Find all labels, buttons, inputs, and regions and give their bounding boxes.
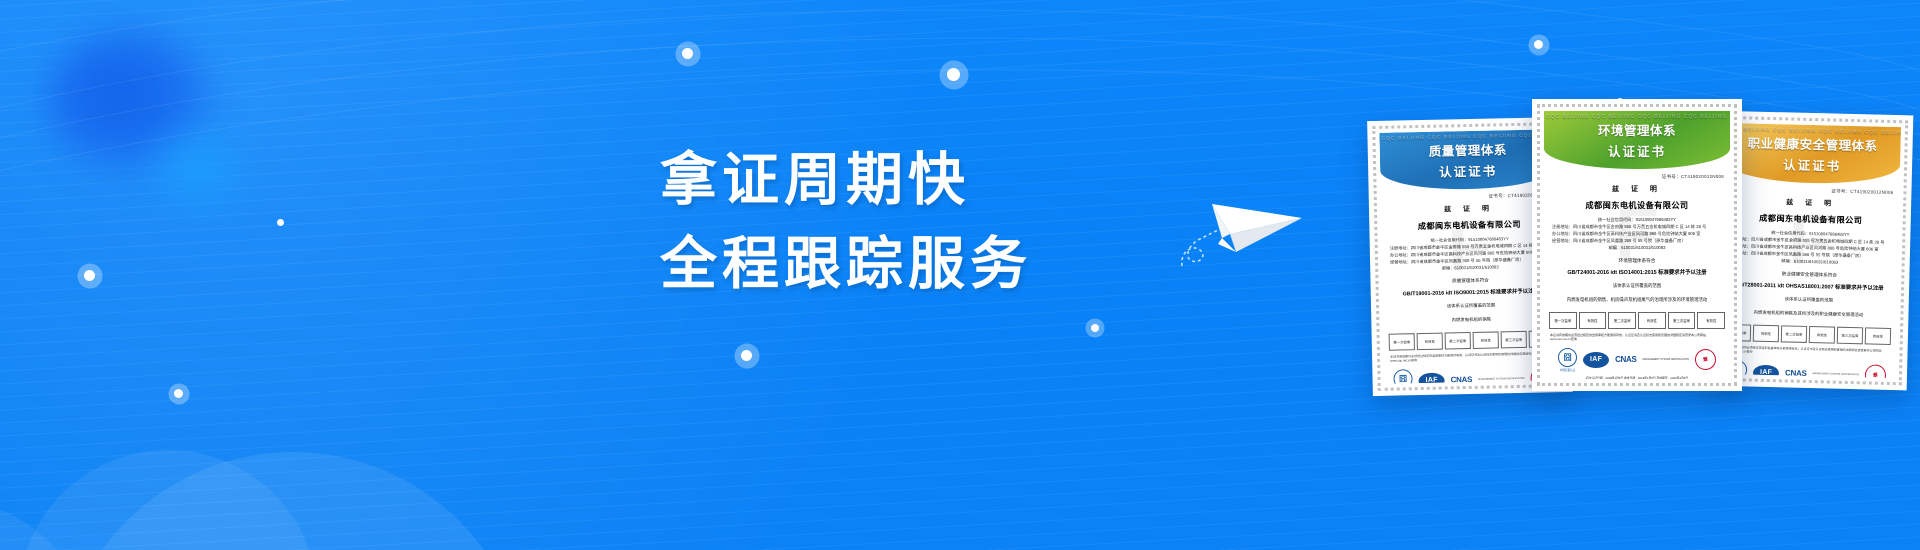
standard-code: GB/T28001-2011 idt OHSAS18001:2007 标准要求并…: [1721, 280, 1897, 292]
audit-cell: 有效性: [1697, 312, 1725, 329]
audit-cell: 有效性: [1638, 312, 1666, 329]
issue-dates: 初次认证日期：2018年1月5日 换发日期：2019年1月5日 有效期至：202…: [1544, 376, 1730, 379]
company-name: 成都闽东电机设备有限公司: [1544, 199, 1730, 211]
certify-label: 兹 证 明: [1381, 202, 1557, 216]
cnas-subtext: MANAGEMENT SYSTEM CERTIFICATION: [1812, 372, 1858, 377]
standard-code: GB/T24001-2016 idt ISO14001:2015 标准要求并予以…: [1544, 268, 1730, 276]
certificate-number: 证书号：CT419020012N006: [1544, 169, 1730, 180]
postcode: 邮编：610031/610031/610083: [1552, 244, 1722, 251]
audit-cell: 第一次监审: [1549, 312, 1577, 329]
audit-cell: 第三次监审: [1837, 327, 1863, 345]
standard-label: 职业健康安全管理体系符合: [1721, 270, 1897, 280]
certify-label: 兹 证 明: [1723, 196, 1899, 210]
decorative-dot: [84, 270, 95, 281]
audit-cell: 有效性: [1753, 325, 1779, 343]
headline-line-1: 拿证周期快: [660, 138, 1080, 222]
audit-cell: 第一次监审: [1389, 333, 1415, 351]
expiry-date: 有效期至：2022年1月5日: [1656, 376, 1688, 379]
decorative-dot: [682, 48, 693, 59]
cqc-caption: 中国质量认证: [1560, 368, 1576, 372]
cqc-seal: 囧 中国质量认证: [1558, 348, 1577, 372]
cqc-seal: 囧 中国质量认证: [1393, 369, 1412, 384]
decorative-dot: [1091, 324, 1099, 332]
audit-cell: 第二次监审: [1781, 325, 1807, 343]
decorative-dot: [1534, 40, 1543, 49]
band-watermark: CQC BEIJING CQC BEIJING CQC BEIJING CQC …: [1724, 123, 1901, 185]
operating-address: 经营地址：四川省成都市金牛区凤凰路 368 号 55 号院（原华盛备厂房）: [1552, 237, 1722, 244]
decorative-dot: [947, 68, 960, 81]
certificate-environment[interactable]: CQC BEIJING CQC BEIJING CQC BEIJING CQC …: [1532, 99, 1742, 391]
decorative-dot: [277, 219, 284, 226]
cqc-mark-icon: 囧: [1393, 369, 1412, 384]
seal-row: 囧 中国质量认证 IAF CNAS MANAGEMENT SYSTEM CERT…: [1544, 348, 1730, 372]
credit-code: 统一社会信用代码：915108047686483YY: [1552, 216, 1722, 223]
decorative-dot: [741, 350, 752, 361]
audit-table: 第一次监审 有效性 第二次监审 有效性 第三次监审 有效性: [1544, 312, 1730, 329]
cnas-seal-icon: CNAS: [1615, 355, 1636, 364]
decorative-dot: [174, 389, 183, 398]
scope-label: 该体系认证所覆盖的范围: [1544, 283, 1730, 289]
promo-banner: 拿证周期快 全程跟踪服务 CQC BEIJING CQC BEIJING CQC…: [0, 0, 1920, 550]
band-watermark: CQC BEIJING CQC BEIJING CQC BEIJING CQC …: [1379, 129, 1556, 191]
red-stamp-icon: 章: [1693, 347, 1718, 372]
red-stamp-icon: 章: [1863, 363, 1888, 378]
audit-cell: 有效性: [1417, 333, 1443, 351]
audit-cell: 有效性: [1865, 327, 1891, 345]
cnas-subtext: MANAGEMENT SYSTEM CERTIFICATION: [1478, 377, 1524, 381]
scope-label: 该体系认证所覆盖的范围: [1721, 295, 1897, 305]
issue-date: 初次认证日期：2018年1月5日: [1586, 376, 1623, 379]
registered-address: 注册地址：四川省成都市金牛区金府路 555 号万贯五金机电城四期 C 区 14 …: [1552, 223, 1722, 230]
headline-line-2: 全程跟踪服务: [660, 222, 1080, 306]
audit-cell: 第二次监审: [1608, 312, 1636, 329]
audit-cell: 有效性: [1579, 312, 1607, 329]
cyan-glow: [138, 118, 258, 218]
scope-text: 内燃发电机组的销售、机房噪声及机组尾气的治理所涉及的环境管理活动: [1544, 296, 1730, 303]
reissue-date: 换发日期：2019年1月5日: [1624, 376, 1656, 379]
cnas-subtext: MANAGEMENT SYSTEM CERTIFICATION: [1643, 358, 1689, 361]
audit-cell: 第三次监审: [1501, 331, 1527, 349]
audit-cell: 第二次监审: [1445, 332, 1471, 350]
certificate-header-band: CQC BEIJING CQC BEIJING CQC BEIJING CQC …: [1379, 129, 1556, 191]
fineprint: 本证书有效期内必须经过规定的监督审核方能保持有效，认证证书及认证标志使用和管理的…: [1544, 329, 1730, 342]
scope-text: 内燃发电机组的销售及其所涉及的职业健康安全管理活动: [1720, 308, 1896, 319]
certificate-header-band: CQC BEIJING CQC BEIJING CQC BEIJING CQC …: [1724, 123, 1901, 185]
office-address: 办公地址：四川省成都市金牛区高科技产业区风河路 866 号危险钟纳大厦 606 …: [1552, 230, 1722, 237]
certificate-group: CQC BEIJING CQC BEIJING CQC BEIJING CQC …: [1370, 85, 1920, 465]
cqc-mark-icon: 囧: [1558, 348, 1577, 367]
audit-cell: 有效性: [1473, 331, 1499, 349]
audit-cell: 有效性: [1809, 326, 1835, 344]
audit-cell: 第三次监审: [1668, 312, 1696, 329]
certificate-header-band: CQC BEIJING CQC BEIJING CQC BEIJING CQC …: [1544, 111, 1730, 169]
band-watermark: CQC BEIJING CQC BEIJING CQC BEIJING CQC …: [1544, 111, 1730, 169]
certify-label: 兹 证 明: [1544, 184, 1730, 194]
iaf-seal-icon: IAF: [1419, 372, 1445, 383]
iaf-seal-icon: IAF: [1583, 352, 1609, 368]
standard-label: 环境管理体系符合: [1544, 258, 1730, 264]
paper-plane-icon: [1178, 182, 1308, 272]
headline-block: 拿证周期快 全程跟踪服务: [660, 138, 1080, 306]
